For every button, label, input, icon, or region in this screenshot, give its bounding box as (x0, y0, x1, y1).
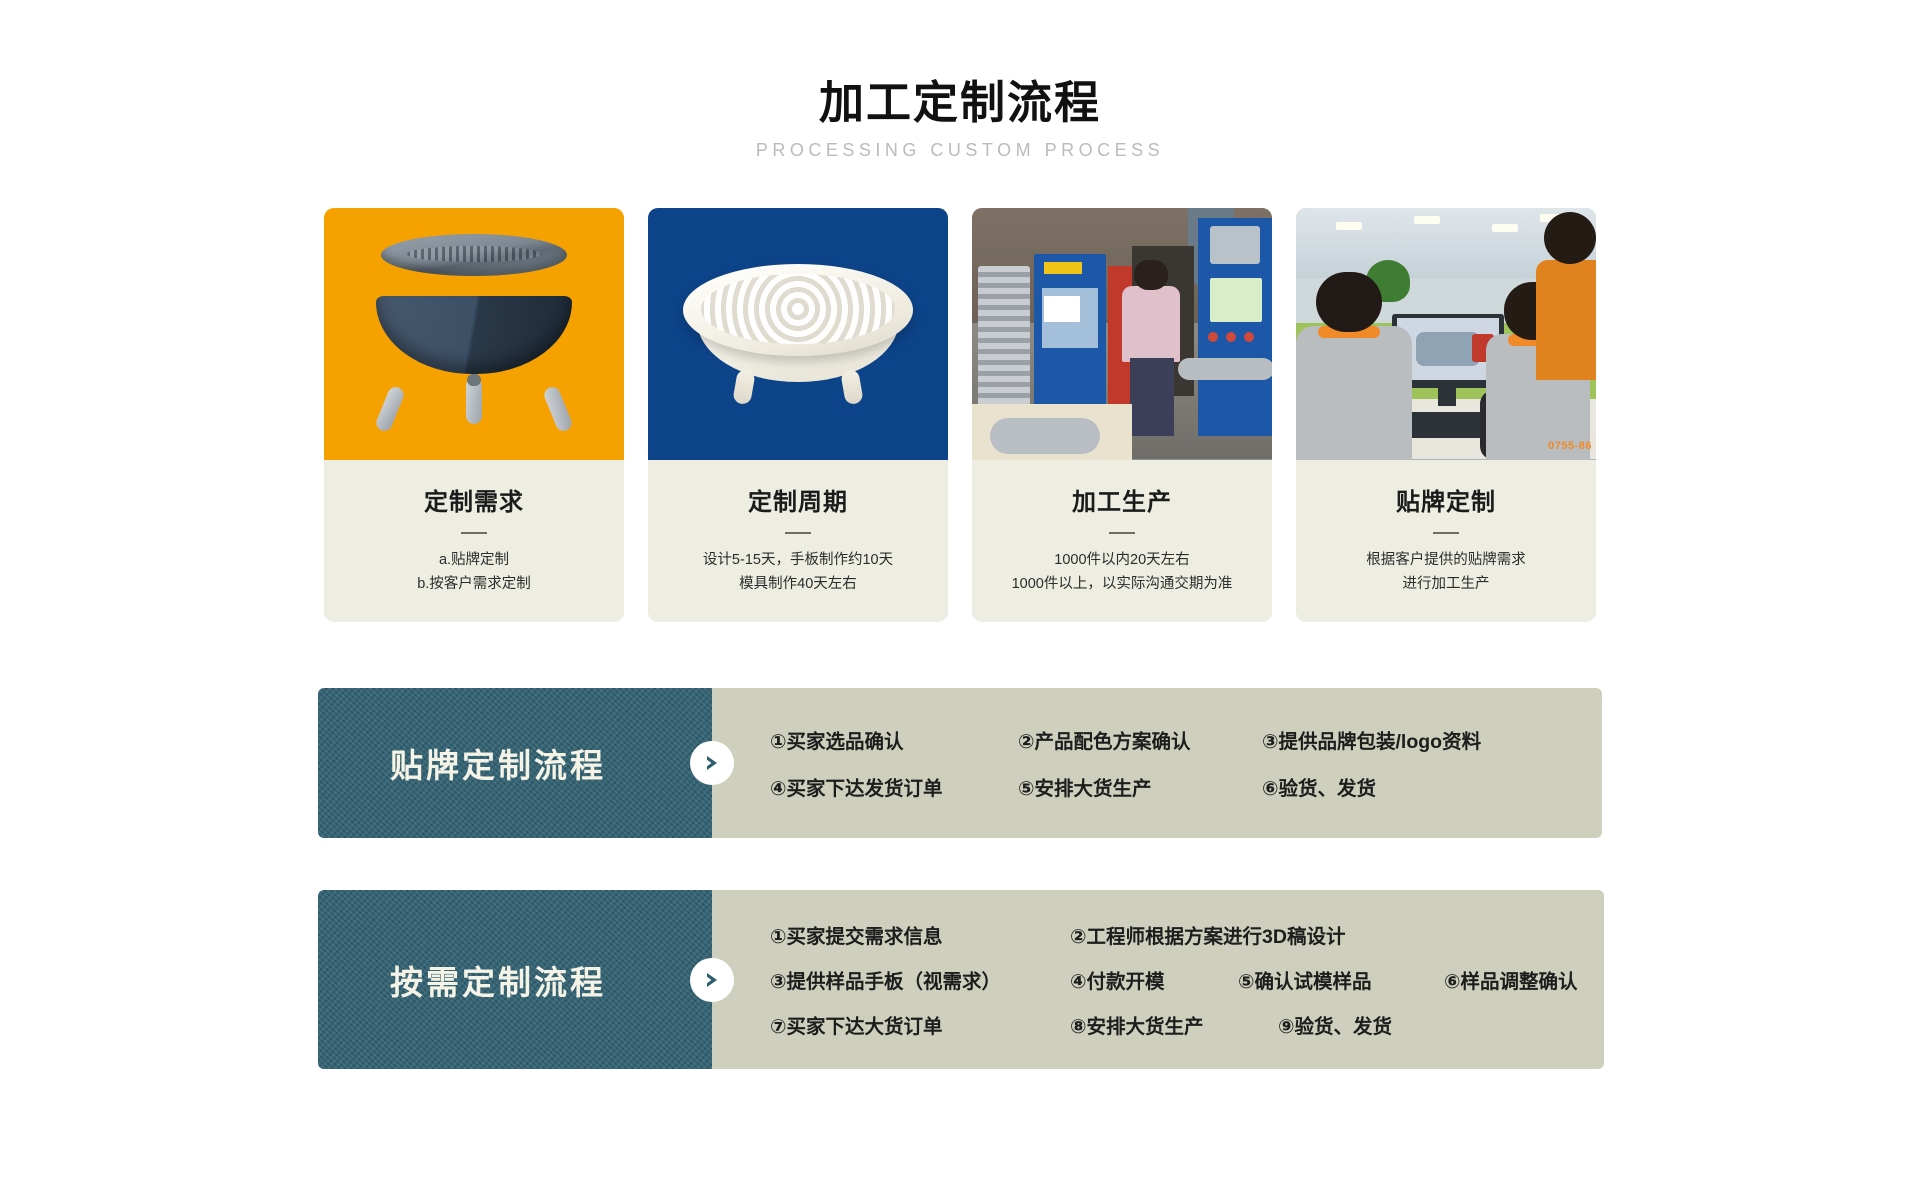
step-item: ⑦买家下达大货订单 (770, 1010, 1070, 1039)
factory-worker-head (1134, 260, 1168, 290)
page-title: 加工定制流程 (0, 78, 1920, 128)
card-divider (1109, 532, 1135, 534)
prototype-foot-right-icon (840, 368, 864, 405)
step-item: ①买家提交需求信息 (770, 920, 1070, 949)
cad-drawing-shape (1416, 332, 1480, 366)
card-custom-cycle[interactable]: 定制周期 设计5-15天，手板制作约10天 模具制作40天左右 (648, 208, 948, 623)
card-body: 定制周期 设计5-15天，手板制作约10天 模具制作40天左右 (648, 460, 948, 623)
card-divider (1433, 532, 1459, 534)
card-custom-requirement[interactable]: 定制需求 a.贴牌定制 b.按客户需求定制 (324, 208, 624, 623)
card-body: 加工生产 1000件以内20天左右 1000件以上，以实际沟通交期为准 (972, 460, 1272, 623)
card-desc-line-1: 1000件以内20天左右 (1054, 552, 1189, 568)
step-item: ⑤安排大货生产 (1018, 772, 1262, 801)
card-desc-line-2: 进行加工生产 (1403, 576, 1490, 592)
bar-step-row: ⑦买家下达大货订单 ⑧安排大货生产 ⑨验货、发货 (770, 1010, 1578, 1039)
step-item: ⑥验货、发货 (1262, 772, 1376, 801)
ceiling-light-icon (1414, 216, 1440, 224)
bar-label-panel: 按需定制流程 (318, 890, 712, 1069)
office-person-left-body (1296, 326, 1412, 460)
office-person-left-head (1316, 272, 1382, 332)
factory-machine-photo (972, 208, 1272, 460)
bar-step-row: ③提供样品手板（视需求） ④付款开模 ⑤确认试模样品 ⑥样品调整确认 (770, 965, 1578, 994)
factory-pipe (1178, 358, 1272, 380)
office-person-right-head (1544, 212, 1596, 264)
card-processing-production[interactable]: 加工生产 1000件以内20天左右 1000件以上，以实际沟通交期为准 (972, 208, 1272, 623)
card-divider (785, 532, 811, 534)
factory-yellow-label (1044, 262, 1082, 274)
card-body: 贴牌定制 根据客户提供的贴牌需求 进行加工生产 (1296, 460, 1596, 623)
ceiling-light-icon (1492, 224, 1518, 232)
bar-label-text: 按需定制流程 (390, 956, 640, 1004)
white-prototype-photo (648, 208, 948, 460)
factory-worker-legs (1130, 358, 1174, 436)
office-person-right-body (1536, 260, 1596, 380)
step-item: ⑨验货、发货 (1278, 1010, 1392, 1039)
step-item: ③提供样品手板（视需求） (770, 965, 1070, 994)
card-desc-line-2: 模具制作40天左右 (739, 576, 857, 592)
step-item: ①买家选品确认 (770, 725, 1018, 754)
page-header: 加工定制流程 PROCESSING CUSTOM PROCESS (0, 0, 1920, 161)
card-desc: 设计5-15天，手板制作约10天 模具制作40天左右 (658, 548, 938, 597)
step-item: ②产品配色方案确认 (1018, 725, 1262, 754)
card-desc-line-1: 根据客户提供的贴牌需求 (1366, 552, 1526, 568)
factory-worker-body (1122, 286, 1180, 362)
card-desc-line-1: 设计5-15天，手板制作约10天 (703, 552, 893, 568)
bar-steps: ①买家选品确认 ②产品配色方案确认 ③提供品牌包装/logo资料 ④买家下达发货… (712, 688, 1602, 838)
factory-panel-buttons (1208, 332, 1266, 342)
prototype-top-icon (683, 264, 913, 356)
step-item: ⑥样品调整确认 (1444, 965, 1578, 994)
bar-ondemand-process: 按需定制流程 ①买家提交需求信息 ②工程师根据方案进行3D稿设计 ③提供样品手板… (318, 890, 1602, 1069)
office-watermark: 0755-86 (1548, 440, 1592, 452)
factory-part-stack (978, 266, 1030, 416)
bar-step-row: ①买家选品确认 ②产品配色方案确认 ③提供品牌包装/logo资料 (770, 725, 1576, 754)
bar-steps: ①买家提交需求信息 ②工程师根据方案进行3D稿设计 ③提供样品手板（视需求） ④… (712, 890, 1604, 1069)
grill-lid-icon (381, 234, 567, 276)
card-body: 定制需求 a.贴牌定制 b.按客户需求定制 (324, 460, 624, 623)
card-title: 贴牌定制 (1306, 482, 1586, 517)
step-item: ③提供品牌包装/logo资料 (1262, 725, 1481, 754)
factory-panel-screen-top (1210, 226, 1260, 264)
card-desc: a.贴牌定制 b.按客户需求定制 (334, 548, 614, 597)
bar-step-row: ④买家下达发货订单 ⑤安排大货生产 ⑥验货、发货 (770, 772, 1576, 801)
step-item: ⑧安排大货生产 (1070, 1010, 1278, 1039)
office-design-photo: 0755-86 (1296, 208, 1596, 460)
panel-button-icon (1226, 332, 1236, 342)
step-item: ⑤确认试模样品 (1238, 965, 1444, 994)
process-bars: 贴牌定制流程 ①买家选品确认 ②产品配色方案确认 ③提供品牌包装/logo资料 … (0, 688, 1920, 1069)
panel-button-icon (1208, 332, 1218, 342)
process-page: 加工定制流程 PROCESSING CUSTOM PROCESS 定制需求 a.… (0, 0, 1920, 1200)
grill-leg-right-icon (542, 384, 574, 433)
factory-mold-part (990, 418, 1100, 454)
bar-label-text: 贴牌定制流程 (390, 739, 640, 787)
card-oem-customization[interactable]: 0755-86 贴牌定制 根据客户提供的贴牌需求 进行加工生产 (1296, 208, 1596, 623)
panel-button-icon (1244, 332, 1254, 342)
chevron-right-icon (690, 958, 734, 1002)
card-desc: 1000件以内20天左右 1000件以上，以实际沟通交期为准 (982, 548, 1262, 597)
card-desc-line-2: b.按客户需求定制 (417, 576, 531, 592)
step-item: ④付款开模 (1070, 965, 1238, 994)
card-title: 加工生产 (982, 482, 1262, 517)
ceiling-light-icon (1336, 222, 1362, 230)
card-desc-line-1: a.贴牌定制 (439, 552, 509, 568)
process-cards: 定制需求 a.贴牌定制 b.按客户需求定制 定制周期 (0, 208, 1920, 623)
grill-leg-left-icon (374, 384, 406, 433)
card-divider (461, 532, 487, 534)
bar-step-row: ①买家提交需求信息 ②工程师根据方案进行3D稿设计 (770, 920, 1578, 949)
prototype-object (683, 262, 913, 390)
step-item: ②工程师根据方案进行3D稿设计 (1070, 920, 1345, 949)
office-monitor-stand (1438, 388, 1456, 406)
card-desc-line-2: 1000件以上，以实际沟通交期为准 (1012, 576, 1233, 592)
chevron-right-icon (690, 741, 734, 785)
grill-bowl-icon (376, 296, 572, 374)
bar-oem-process: 贴牌定制流程 ①买家选品确认 ②产品配色方案确认 ③提供品牌包装/logo资料 … (318, 688, 1602, 838)
grill-leg-center-icon (466, 378, 482, 424)
step-item: ④买家下达发货订单 (770, 772, 1018, 801)
card-desc: 根据客户提供的贴牌需求 进行加工生产 (1306, 548, 1586, 597)
bar-label-panel: 贴牌定制流程 (318, 688, 712, 838)
factory-panel-screen-main (1210, 278, 1262, 322)
warning-sign-icon (1044, 296, 1080, 322)
prototype-foot-left-icon (732, 368, 756, 405)
page-subtitle: PROCESSING CUSTOM PROCESS (0, 140, 1920, 161)
card-title: 定制需求 (334, 482, 614, 517)
card-title: 定制周期 (658, 482, 938, 517)
grill-exploded-illustration (324, 208, 624, 460)
